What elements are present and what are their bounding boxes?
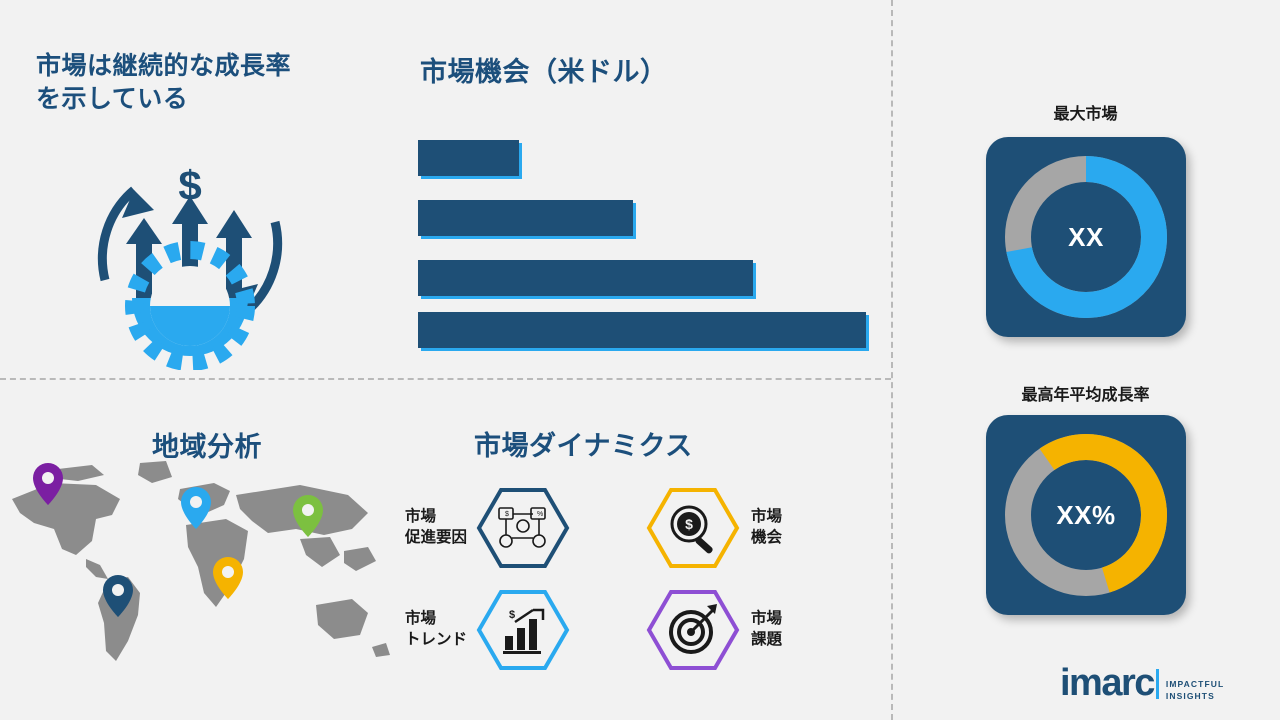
world-map — [0, 455, 400, 695]
market-dynamics-heading: 市場ダイナミクス — [474, 424, 693, 463]
largest-market-donut-card: XX — [986, 137, 1186, 337]
dynamics-label-challenges: 市場 課題 — [751, 609, 782, 651]
growth-heading: 市場は継続的な成長率 を示している — [36, 50, 376, 116]
bar-4 — [418, 312, 866, 348]
bar-3 — [418, 260, 753, 296]
opportunity-hex: $ — [645, 486, 741, 570]
largest-market-label: 最大市場 — [891, 100, 1280, 124]
marker-europe — [181, 487, 211, 529]
drivers-hex: $ % — [475, 486, 571, 570]
logo-tagline: IMPACTFUL INSIGHTS — [1166, 679, 1224, 702]
cagr-value: XX% — [986, 415, 1186, 615]
map-marker-group — [33, 463, 323, 617]
svg-text:$: $ — [505, 511, 509, 518]
marker-south-america — [103, 575, 133, 617]
marker-north-america — [33, 463, 63, 505]
dynamics-item-trends[interactable]: 市場 トレンド $ — [405, 588, 571, 672]
logo-divider — [1156, 669, 1159, 699]
svg-text:$: $ — [509, 609, 515, 621]
svg-text:$: $ — [685, 516, 693, 532]
horizontal-divider — [0, 378, 891, 380]
dynamics-label-drivers: 市場 促進要因 — [405, 507, 467, 549]
dynamics-label-opportunity: 市場 機会 — [751, 507, 782, 549]
marker-africa — [213, 557, 243, 599]
cagr-label: 最高年平均成長率 — [891, 381, 1280, 405]
logo-tagline-line1: IMPACTFUL — [1166, 679, 1224, 690]
challenges-hex — [645, 588, 741, 672]
gear-arrows-growth-icon: $ — [70, 130, 310, 370]
market-opportunity-bar-chart — [418, 140, 878, 355]
market-dynamics-group: 市場 促進要因 $ % — [405, 478, 825, 678]
cagr-donut-card: XX% — [986, 415, 1186, 615]
largest-market-value: XX — [986, 137, 1186, 337]
bar-2 — [418, 200, 633, 236]
dynamics-item-challenges[interactable]: 市場 課題 — [645, 588, 782, 672]
marker-asia — [293, 495, 323, 537]
logo-tagline-line2: INSIGHTS — [1166, 691, 1224, 702]
dynamics-item-opportunity[interactable]: $ 市場 機会 — [645, 486, 782, 570]
dynamics-item-drivers[interactable]: 市場 促進要因 $ % — [405, 486, 571, 570]
svg-text:%: % — [537, 511, 543, 518]
imarc-logo: imarc IMPACTFUL INSIGHTS — [1060, 664, 1224, 702]
bar-1 — [418, 140, 519, 176]
logo-wordmark: imarc — [1060, 664, 1154, 702]
trends-hex: $ — [475, 588, 571, 672]
infographic-slide: 市場は継続的な成長率 を示している $ — [0, 0, 1280, 720]
market-opportunity-heading: 市場機会（米ドル） — [420, 50, 860, 89]
dynamics-label-trends: 市場 トレンド — [405, 609, 467, 651]
